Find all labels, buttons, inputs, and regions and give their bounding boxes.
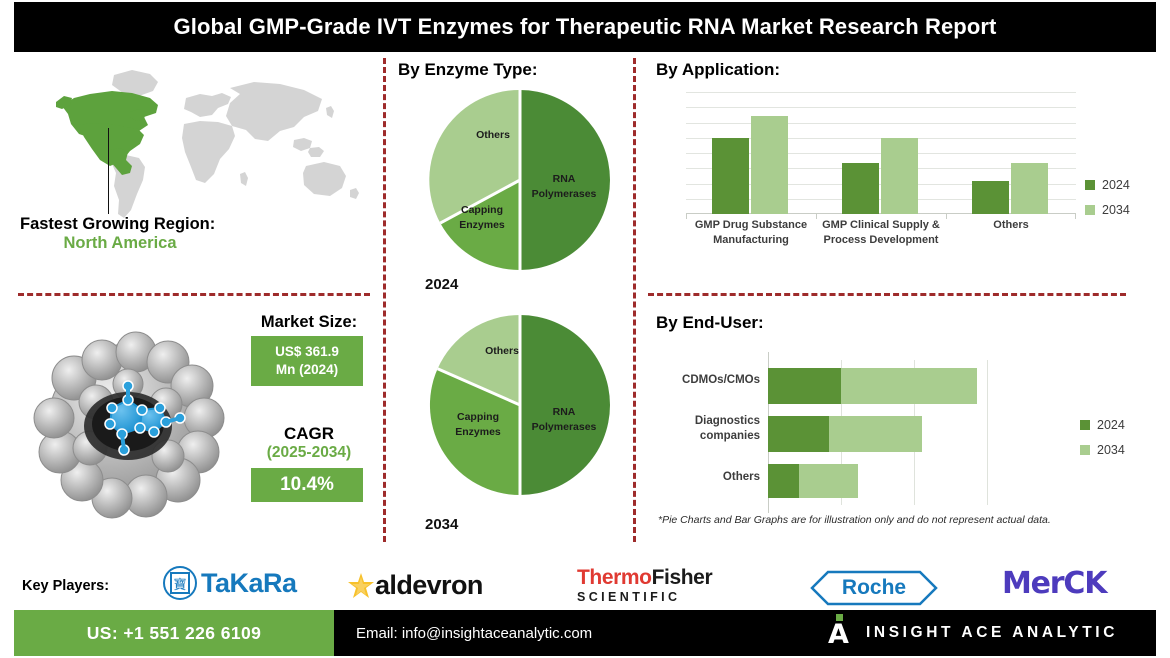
divider-vertical-right — [633, 58, 636, 542]
market-size-value-line1: US$ 361.9 — [275, 343, 339, 361]
enduser-label-diagnostics: Diagnostics companies — [640, 414, 760, 444]
aldevron-wordmark: aldevron — [375, 570, 483, 601]
pie-2034-slice-label-rna-1: RNA — [553, 406, 576, 418]
logo-thermo-fisher: ThermoFisher SCIENTIFIC — [577, 566, 712, 604]
hbar-2024-cdmos — [768, 368, 841, 404]
hbar-2024-diagnostics — [768, 416, 829, 452]
legend-label-2034: 2034 — [1097, 443, 1125, 457]
merck-wordmark: MerCK — [1002, 566, 1106, 601]
map-pointer-line — [108, 128, 109, 214]
bar-2034-gmp-clinical-supply — [881, 138, 918, 214]
legend-item-2034: 2034 — [1080, 443, 1125, 457]
hbar-row-diagnostics — [768, 416, 1018, 452]
legend-label-2034: 2034 — [1102, 203, 1130, 217]
page-title: Global GMP-Grade IVT Enzymes for Therape… — [174, 14, 997, 40]
hbar-2024-others — [768, 464, 799, 498]
cagr-value-box: 10.4% — [251, 468, 363, 502]
hbar-2034-others — [799, 464, 857, 498]
legend-swatch-2034 — [1080, 445, 1090, 455]
fastest-growing-region: Fastest Growing Region: North America — [20, 215, 370, 253]
legend-swatch-2024 — [1080, 420, 1090, 430]
divider-horizontal-left — [18, 293, 370, 296]
bar-2024-others — [972, 181, 1009, 214]
fastest-growing-region-label: Fastest Growing Region: — [20, 215, 370, 234]
logo-merck: MerCK — [1002, 566, 1106, 601]
category-label-gmp-clinical-supply: GMP Clinical Supply & Process Developmen… — [816, 218, 946, 248]
logo-letter-a: A — [828, 621, 850, 648]
gridline — [686, 107, 1076, 108]
takara-seal-glyph: 寶 — [170, 572, 190, 594]
legend-item-2024: 2024 — [1085, 178, 1130, 192]
hbar-2034-diagnostics — [829, 416, 923, 452]
pie-2024-slice-label-rna-1: RNA — [553, 173, 576, 185]
enduser-chart-legend: 2024 2034 — [1080, 418, 1125, 468]
hbar-2034-cdmos — [841, 368, 977, 404]
key-players-label: Key Players: — [22, 578, 109, 594]
gridline — [686, 92, 1076, 93]
divider-horizontal-right — [648, 293, 1126, 296]
market-size-title: Market Size: — [248, 313, 370, 332]
hbar-row-cdmos — [768, 368, 1018, 404]
legend-label-2024: 2024 — [1097, 418, 1125, 432]
fastest-growing-region-value: North America — [20, 234, 220, 253]
pie-2034-slice-label-capping-2: Enzymes — [455, 426, 501, 438]
bar-2034-gmp-drug-substance — [751, 116, 788, 214]
enduser-label-others: Others — [640, 470, 760, 485]
pie-2024-slice-label-capping-1: Capping — [461, 204, 503, 216]
legend-swatch-2024 — [1085, 180, 1095, 190]
footer-brand-name: INSIGHT ACE ANALYTIC — [866, 624, 1118, 642]
pie-2024-slice-label-others: Others — [476, 129, 510, 141]
category-label-gmp-drug-substance: GMP Drug Substance Manufacturing — [686, 218, 816, 248]
bar-2034-others — [1011, 163, 1048, 214]
category-label-others: Others — [946, 218, 1076, 248]
takara-wordmark: TaKaRa — [201, 568, 297, 599]
market-size-value-box: US$ 361.9 Mn (2024) — [251, 336, 363, 386]
chart-disclaimer-note: *Pie Charts and Bar Graphs are for illus… — [658, 514, 1138, 526]
enzyme-type-section-title: By Enzyme Type: — [398, 60, 538, 80]
roche-wordmark: Roche — [810, 570, 938, 606]
takara-seal-icon: 寶 — [163, 566, 197, 600]
application-section-title: By Application: — [656, 60, 780, 80]
page-title-bar: Global GMP-Grade IVT Enzymes for Therape… — [14, 2, 1156, 52]
pie-2024-slice-label-rna-2: Polymerases — [532, 188, 597, 200]
footer-phone[interactable]: US: +1 551 226 6109 — [14, 610, 334, 656]
protein-molecule-illustration — [16, 320, 241, 530]
roche-hexagon-icon: Roche — [810, 570, 938, 606]
logo-aldevron: aldevron — [348, 570, 483, 601]
pie-chart-2024: RNA Polymerases Capping Enzymes Others — [425, 85, 615, 275]
logo-roche: Roche — [810, 570, 938, 606]
market-size-value-line2: Mn (2024) — [276, 361, 338, 379]
enduser-label-cdmos: CDMOs/CMOs — [640, 373, 760, 388]
footer-bar: Email: info@insightaceanalytic.com A INS… — [334, 610, 1156, 656]
bar-2024-gmp-drug-substance — [712, 138, 749, 214]
application-category-labels: GMP Drug Substance Manufacturing GMP Cli… — [686, 218, 1076, 248]
logo-takara: 寶 TaKaRa — [163, 566, 297, 600]
divider-vertical-left — [383, 58, 386, 542]
pie-2034-slice-label-rna-2: Polymerases — [532, 421, 597, 433]
hbar-row-others — [768, 464, 1018, 498]
footer-email[interactable]: Email: info@insightaceanalytic.com — [356, 625, 592, 642]
pie-2034-slice-label-others: Others — [485, 345, 519, 357]
cagr-period: (2025-2034) — [248, 444, 370, 462]
footer-brand: A INSIGHT ACE ANALYTIC — [828, 618, 1118, 648]
bar-2024-gmp-clinical-supply — [842, 163, 879, 214]
cagr-title: CAGR — [248, 424, 370, 444]
thermo-fisher-wordmark: ThermoFisher — [577, 566, 712, 590]
aldevron-star-icon — [348, 573, 374, 599]
enduser-bar-chart — [768, 360, 1018, 505]
pie-2034-slice-label-capping-1: Capping — [457, 411, 499, 423]
gridline — [686, 123, 1076, 124]
application-chart-legend: 2024 2034 — [1085, 178, 1130, 228]
pie-2034-year: 2034 — [425, 516, 458, 533]
pie-2024-slice-label-capping-2: Enzymes — [459, 219, 505, 231]
insight-ace-a-logo-icon: A — [828, 618, 850, 648]
legend-item-2024: 2024 — [1080, 418, 1125, 432]
north-america-highlight — [56, 91, 158, 175]
legend-item-2034: 2034 — [1085, 203, 1130, 217]
application-bar-chart — [686, 92, 1076, 214]
legend-label-2024: 2024 — [1102, 178, 1130, 192]
legend-swatch-2034 — [1085, 205, 1095, 215]
thermo-fisher-subtitle: SCIENTIFIC — [577, 590, 680, 604]
world-map — [18, 62, 368, 222]
pie-chart-2034: RNA Polymerases Capping Enzymes Others — [425, 310, 615, 500]
pie-2024-year: 2024 — [425, 276, 458, 293]
enduser-section-title: By End-User: — [656, 313, 764, 333]
